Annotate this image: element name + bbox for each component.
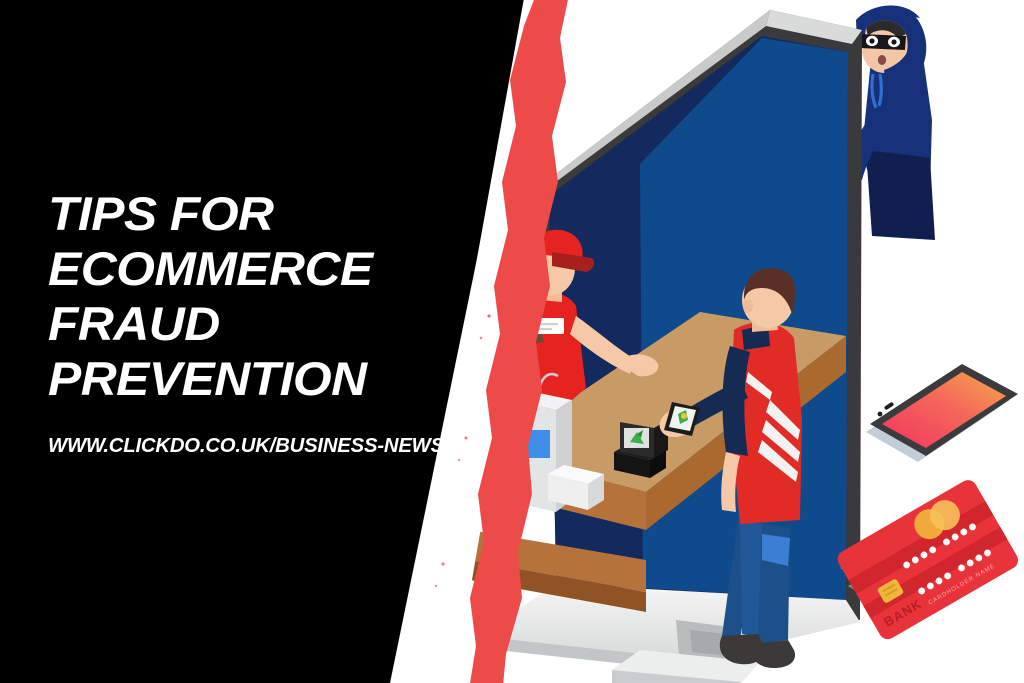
poster: BANK CARDHOLDER NAME TIPS FOR ECOMMERCE … <box>0 0 1024 683</box>
page-title: TIPS FOR ECOMMERCE FRAUD PREVENTION <box>48 186 468 406</box>
pos-terminal <box>614 420 668 478</box>
headline-line-1: TIPS FOR <box>48 186 493 241</box>
website-url: WWW.CLICKDO.CO.UK/BUSINESS-NEWS <box>48 434 444 458</box>
headline-line-2: ECOMMERCE <box>48 241 493 296</box>
headline-line-3: FRAUD <box>48 296 493 351</box>
headline-line-4: PREVENTION <box>48 351 493 406</box>
